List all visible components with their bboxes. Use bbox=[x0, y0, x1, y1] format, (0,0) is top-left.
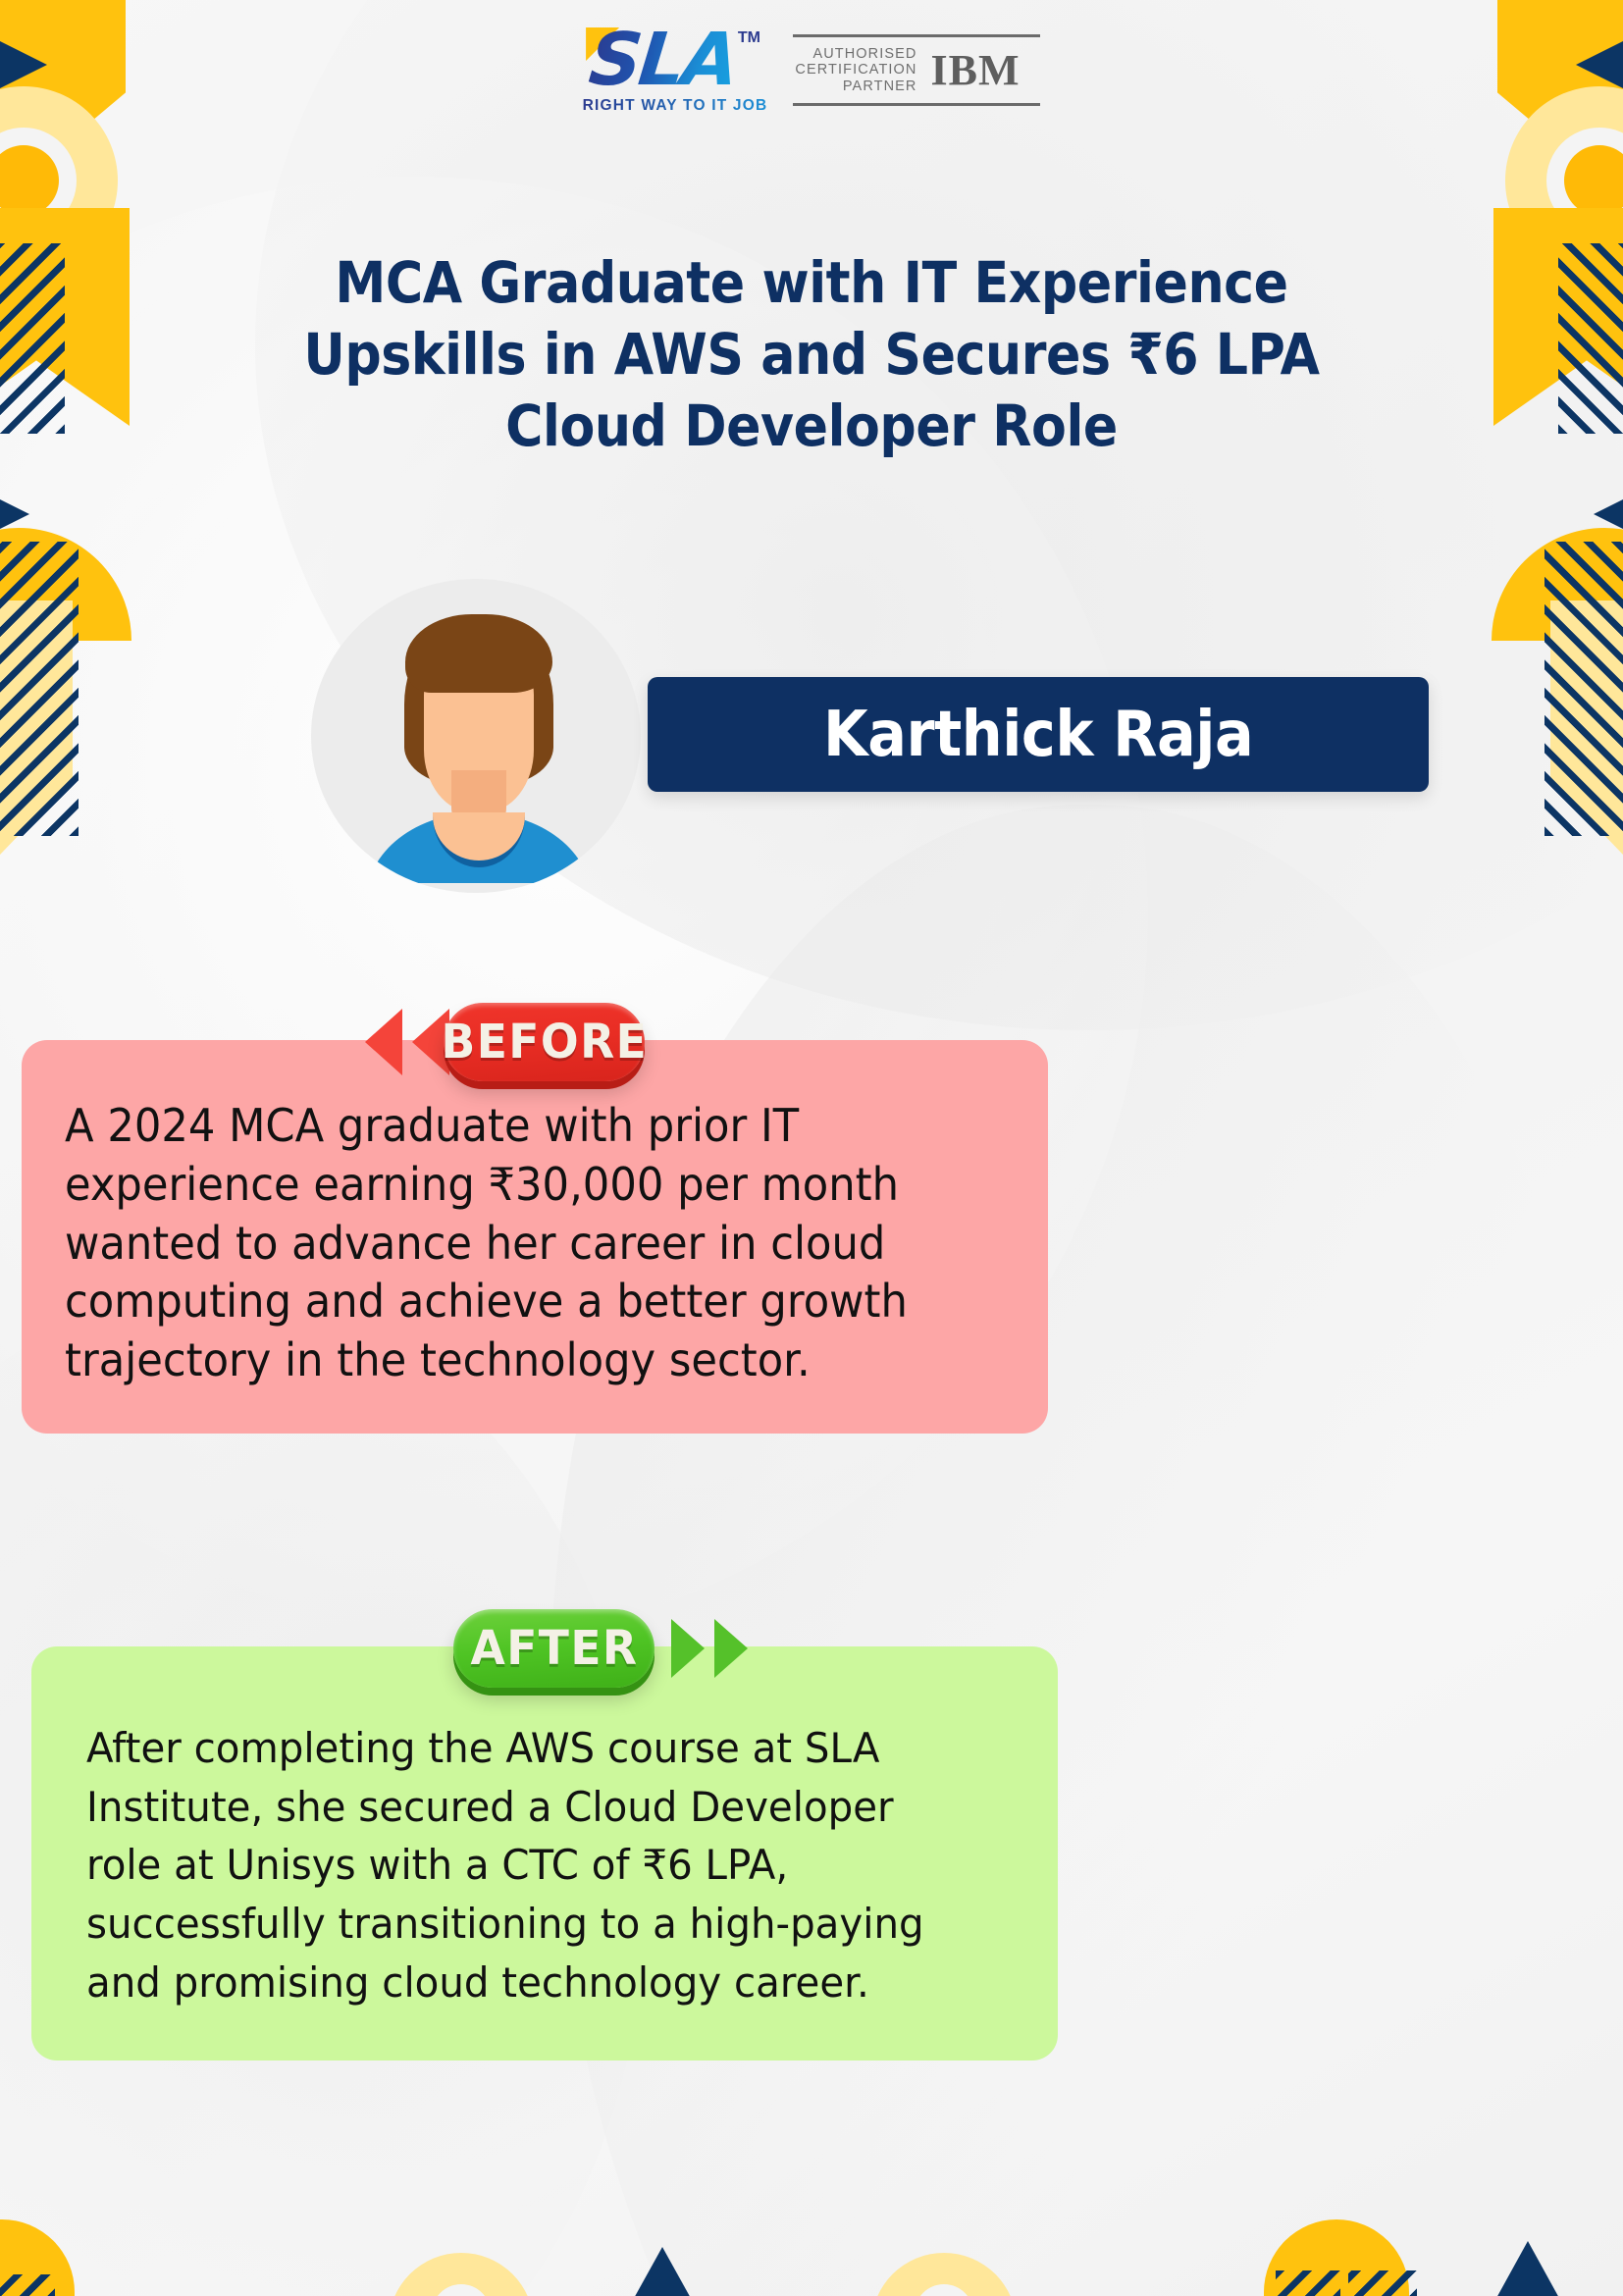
ibm-line-authorised: AUTHORISED bbox=[795, 46, 916, 63]
title-line-2: Upskills in AWS and Secures ₹6 LPA bbox=[81, 319, 1543, 391]
before-badge-label: BEFORE bbox=[441, 1015, 648, 1070]
person-row: Karthick Raja bbox=[0, 579, 1623, 903]
before-arrows bbox=[365, 1009, 449, 1075]
bottom-right-stripes-a-icon bbox=[1276, 2270, 1340, 2296]
after-badge: AFTER bbox=[453, 1609, 654, 1688]
bottom-yellow-arch-right-hole bbox=[915, 2284, 973, 2296]
right-navy-stripes-icon bbox=[1558, 243, 1623, 434]
after-badge-label: AFTER bbox=[470, 1621, 638, 1676]
right-navy-arrowhead-icon bbox=[1594, 489, 1623, 540]
poster-canvas: SLA TM RIGHT WAY TO IT JOB AUTHORISED CE… bbox=[0, 0, 1623, 2296]
title-line-3: Cloud Developer Role bbox=[81, 391, 1543, 462]
left-navy-arrowhead-icon bbox=[0, 489, 29, 540]
after-arrow-right-1-icon bbox=[671, 1619, 705, 1678]
after-card-text: After completing the AWS course at SLA I… bbox=[86, 1719, 967, 2011]
brand-header: SLA TM RIGHT WAY TO IT JOB AUTHORISED CE… bbox=[0, 26, 1623, 115]
sla-logo-text: SLA bbox=[586, 26, 739, 94]
bottom-navy-triangle-icon bbox=[602, 2247, 722, 2296]
before-badge: BEFORE bbox=[444, 1003, 645, 1081]
top-left-yellow-dot-icon bbox=[0, 145, 59, 216]
left-navy-stripes-icon bbox=[0, 243, 65, 434]
after-arrow-right-2-icon bbox=[714, 1619, 748, 1678]
bottom-right-navy-triangle-icon bbox=[1464, 2241, 1592, 2296]
bottom-right-stripes-b-icon bbox=[1348, 2270, 1417, 2296]
avatar bbox=[311, 579, 641, 893]
after-card: After completing the AWS course at SLA I… bbox=[31, 1646, 1058, 2061]
avatar-fringe-icon bbox=[405, 614, 552, 693]
sla-logo: SLA TM RIGHT WAY TO IT JOB bbox=[583, 26, 768, 115]
top-right-ring-hole bbox=[1546, 128, 1623, 234]
background-swoosh-3 bbox=[550, 805, 1623, 2296]
bottom-yellow-arch-left-icon bbox=[389, 2253, 534, 2296]
before-card-text: A 2024 MCA graduate with prior IT experi… bbox=[65, 1097, 949, 1390]
before-card: A 2024 MCA graduate with prior IT experi… bbox=[22, 1040, 1048, 1434]
bottom-right-yellow-arch-icon bbox=[1264, 2219, 1409, 2296]
ibm-partner-lines: AUTHORISED CERTIFICATION PARTNER bbox=[795, 46, 916, 95]
person-name-text: Karthick Raja bbox=[823, 699, 1253, 771]
after-arrows bbox=[671, 1619, 748, 1678]
bottom-yellow-arch-right-icon bbox=[871, 2253, 1017, 2296]
page-title: MCA Graduate with IT Experience Upskills… bbox=[81, 247, 1543, 462]
bottom-left-yellow-arch-icon bbox=[0, 2219, 75, 2296]
avatar-clip bbox=[311, 579, 641, 893]
top-left-ring-hole bbox=[0, 128, 77, 234]
ibm-partner-badge: AUTHORISED CERTIFICATION PARTNER IBM bbox=[793, 34, 1040, 107]
ibm-logo-text: IBM bbox=[931, 51, 1021, 90]
title-line-1: MCA Graduate with IT Experience bbox=[81, 247, 1543, 319]
top-right-yellow-dot-icon bbox=[1564, 145, 1623, 216]
before-arrow-left-1-icon bbox=[365, 1009, 402, 1075]
ibm-bottom-rule bbox=[793, 103, 1040, 106]
ibm-line-partner: PARTNER bbox=[795, 78, 916, 95]
person-name-banner: Karthick Raja bbox=[648, 677, 1429, 792]
bottom-yellow-arch-left-hole bbox=[432, 2284, 491, 2296]
sla-trademark-text: TM bbox=[738, 29, 760, 47]
bottom-left-stripes-icon bbox=[0, 2274, 55, 2296]
ibm-line-certification: CERTIFICATION bbox=[795, 62, 916, 78]
